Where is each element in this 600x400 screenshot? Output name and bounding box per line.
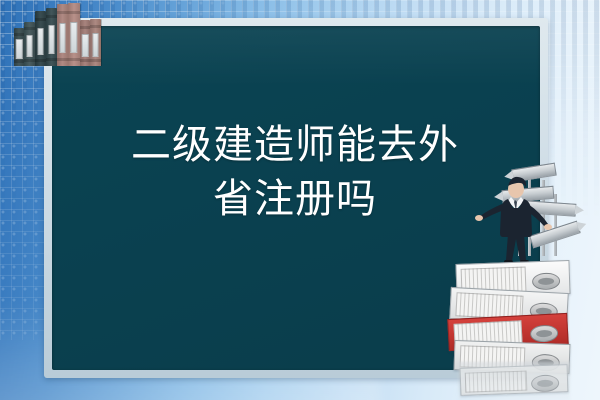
businessman-right-hand	[544, 224, 552, 230]
binder-band-bottom	[46, 58, 57, 61]
binder-6	[68, 3, 80, 66]
businessman-left-hand	[475, 215, 483, 221]
binder-band-bottom	[57, 58, 68, 61]
binder-band-top	[14, 33, 24, 36]
binder-label	[82, 34, 89, 57]
binder-band-top	[24, 27, 35, 30]
office-binders-row	[0, 0, 100, 66]
binder-label	[26, 35, 33, 57]
binder-5	[57, 4, 68, 66]
binder-label	[59, 23, 66, 54]
binder-label	[16, 39, 23, 58]
binder-3	[35, 11, 46, 66]
binder-band-top	[68, 11, 80, 14]
binder-band-bottom	[35, 59, 46, 62]
binder-band-bottom	[80, 59, 90, 62]
binder-band-top	[90, 25, 101, 28]
businessman-on-binders-illustration	[430, 150, 600, 400]
binder-ring	[532, 272, 561, 290]
binder-label	[70, 22, 77, 53]
binder-label	[37, 28, 44, 55]
banner-image: 二级建造师能去外 省注册吗	[0, 0, 600, 400]
binder-band-bottom	[14, 60, 24, 63]
binder-7	[80, 20, 90, 66]
businessman-figure	[470, 172, 558, 272]
binder-label	[92, 33, 99, 57]
binder-band-top	[80, 26, 90, 29]
binder-2	[24, 22, 35, 66]
stack-reflection	[458, 362, 570, 400]
binder-band-bottom	[68, 58, 80, 61]
businessman-legs	[506, 234, 526, 261]
binder-ring	[529, 325, 558, 343]
binder-band-top	[35, 18, 46, 21]
binder-band-bottom	[90, 59, 101, 62]
businessman-left-arm	[480, 204, 504, 220]
binder-band-top	[46, 15, 57, 18]
binder-label	[48, 25, 55, 54]
binder-8	[90, 19, 101, 66]
binder-1	[14, 28, 24, 66]
binder-band-top	[57, 11, 68, 14]
binder-band-bottom	[24, 59, 35, 62]
binder-4	[46, 8, 57, 66]
